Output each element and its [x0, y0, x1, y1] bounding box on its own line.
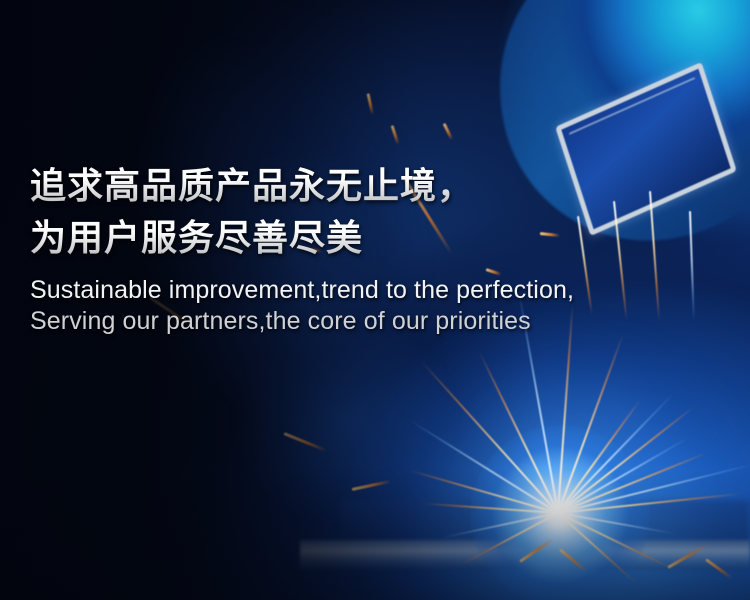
welding-promo-banner: 追求高品质产品永无止境， 为用户服务尽善尽美 Sustainable impro… [0, 0, 750, 600]
slogan-text-block: 追求高品质产品永无止境， 为用户服务尽善尽美 Sustainable impro… [30, 160, 730, 337]
subline-english-2: Serving our partners,the core of our pri… [30, 306, 730, 337]
headline-line-1: 追求高品质产品永无止境， [30, 160, 730, 212]
subline-english-1: Sustainable improvement,trend to the per… [30, 275, 730, 306]
headline-line-2: 为用户服务尽善尽美 [30, 212, 730, 264]
